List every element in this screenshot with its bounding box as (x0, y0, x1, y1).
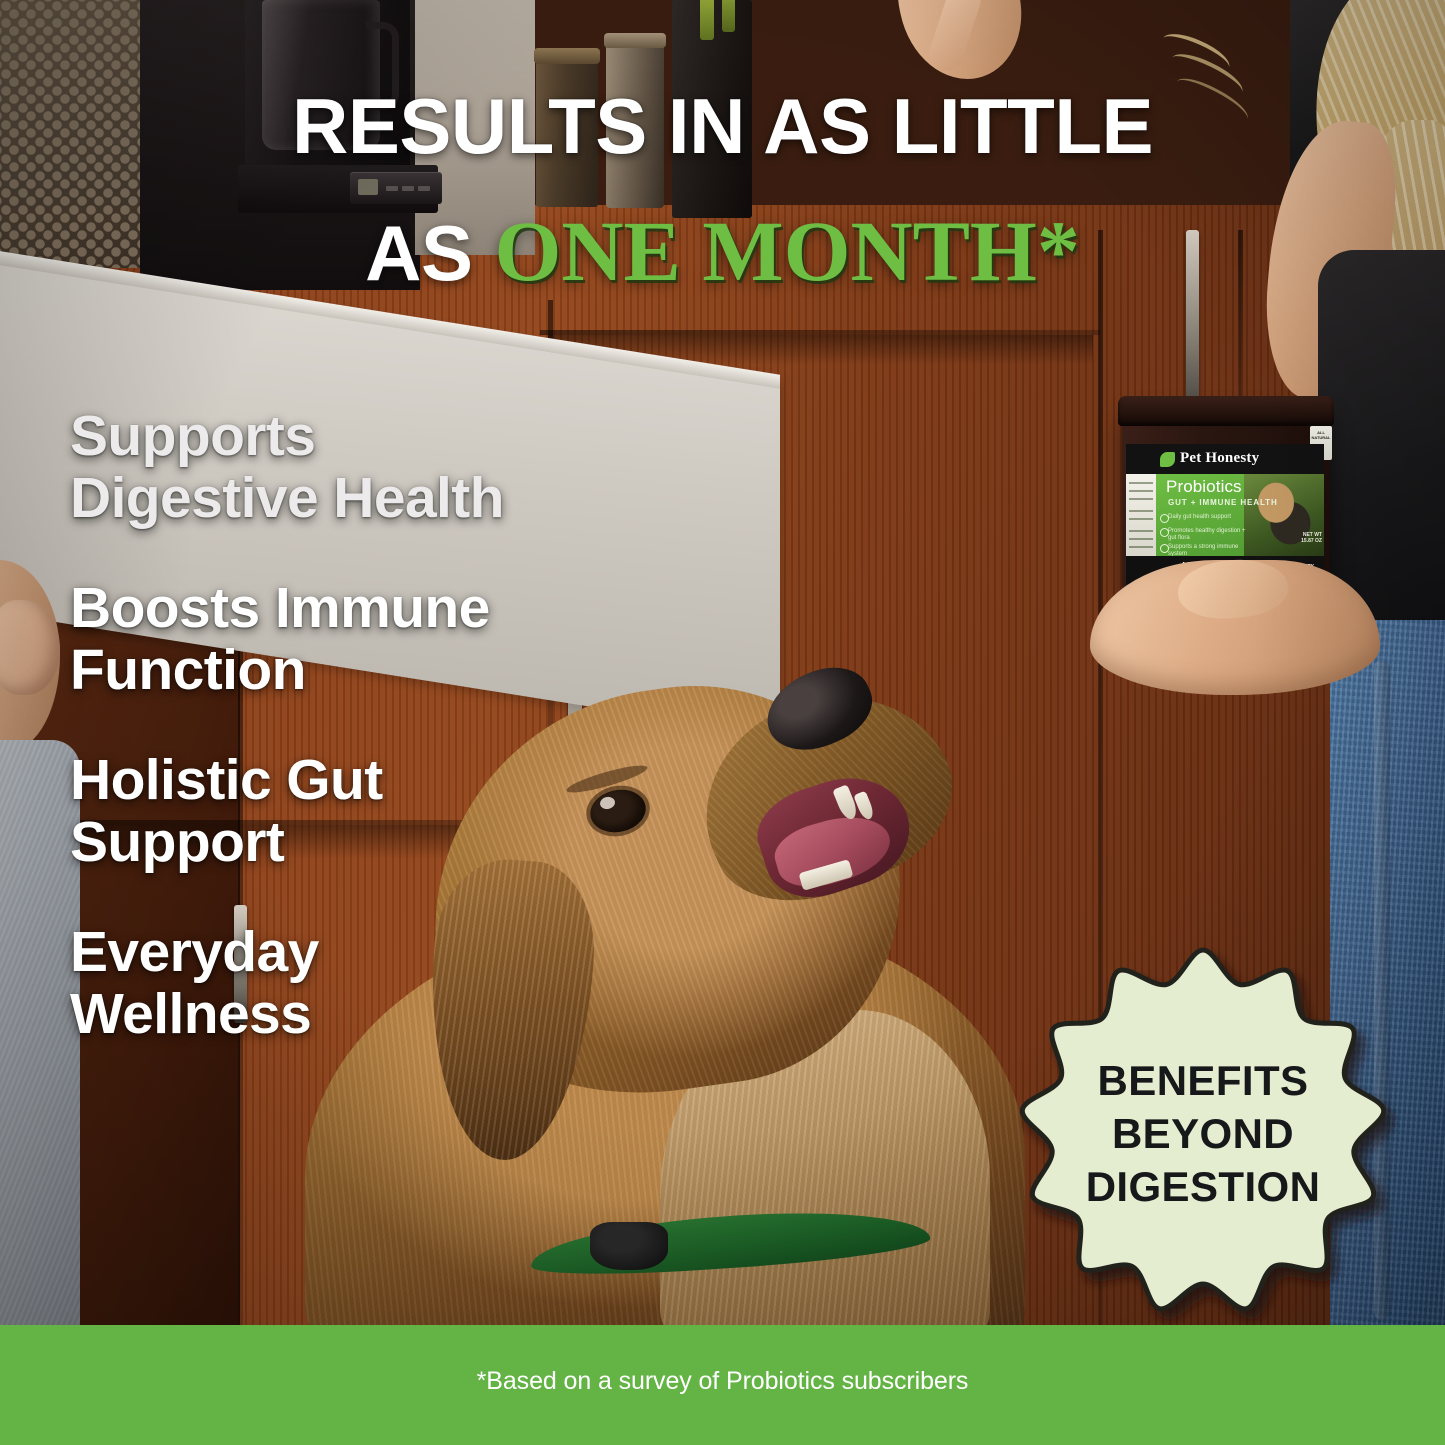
footer-bar: *Based on a survey of Probiotics subscri… (0, 1325, 1445, 1445)
badge-label: BENEFITS BEYOND DIGESTION (1008, 1054, 1398, 1213)
headline-line-1: RESULTS IN AS LITTLE (0, 84, 1445, 168)
headline-line-2: ASONE MONTH* (0, 208, 1445, 319)
leaf-logo-icon (1160, 452, 1175, 467)
headline-as-word: AS (365, 209, 472, 297)
product-net-weight: NET WT 15.87 OZ (1301, 532, 1322, 544)
benefit-item: Holistic Gut Support (70, 749, 670, 873)
benefits-beyond-digestion-badge: BENEFITS BEYOND DIGESTION (1008, 938, 1398, 1326)
ad-creative-canvas: ALL NATURAL Pet Honesty Probiotics GUT +… (0, 0, 1445, 1445)
product-brand-row: Pet Honesty (1126, 444, 1324, 474)
canister-lid (534, 48, 600, 64)
product-name: Probiotics (1166, 477, 1242, 497)
check-icon (1160, 544, 1169, 553)
dog-collar-tag (590, 1222, 668, 1270)
person-left-leg (0, 740, 80, 1340)
product-bullet: Daily gut health support (1168, 514, 1248, 521)
knife-handle (700, 0, 714, 40)
product-brand-name: Pet Honesty (1180, 450, 1259, 467)
coffee-maker-button (402, 186, 414, 191)
all-natural-badge-label: ALL NATURAL (1310, 430, 1332, 440)
product-bullet: Promotes healthy digestion + gut flora (1168, 528, 1248, 542)
coffee-maker-button (418, 186, 430, 191)
benefit-item: Boosts Immune Function (70, 577, 670, 701)
benefit-item: Supports Digestive Health (70, 405, 670, 529)
coffee-maker-display (358, 179, 378, 195)
product-jar-lid (1118, 396, 1334, 426)
benefit-item: Everyday Wellness (70, 921, 670, 1045)
knife-handle (722, 0, 735, 32)
canister-lid (604, 33, 666, 48)
product-subtitle: GUT + IMMUNE HEALTH (1168, 498, 1278, 507)
footer-disclaimer: *Based on a survey of Probiotics subscri… (0, 1367, 1445, 1396)
product-label-side-panel (1126, 474, 1156, 556)
coffee-maker-button (386, 186, 398, 191)
headline-highlight: ONE MONTH* (495, 203, 1080, 299)
benefits-list: Supports Digestive Health Boosts Immune … (70, 405, 670, 1093)
